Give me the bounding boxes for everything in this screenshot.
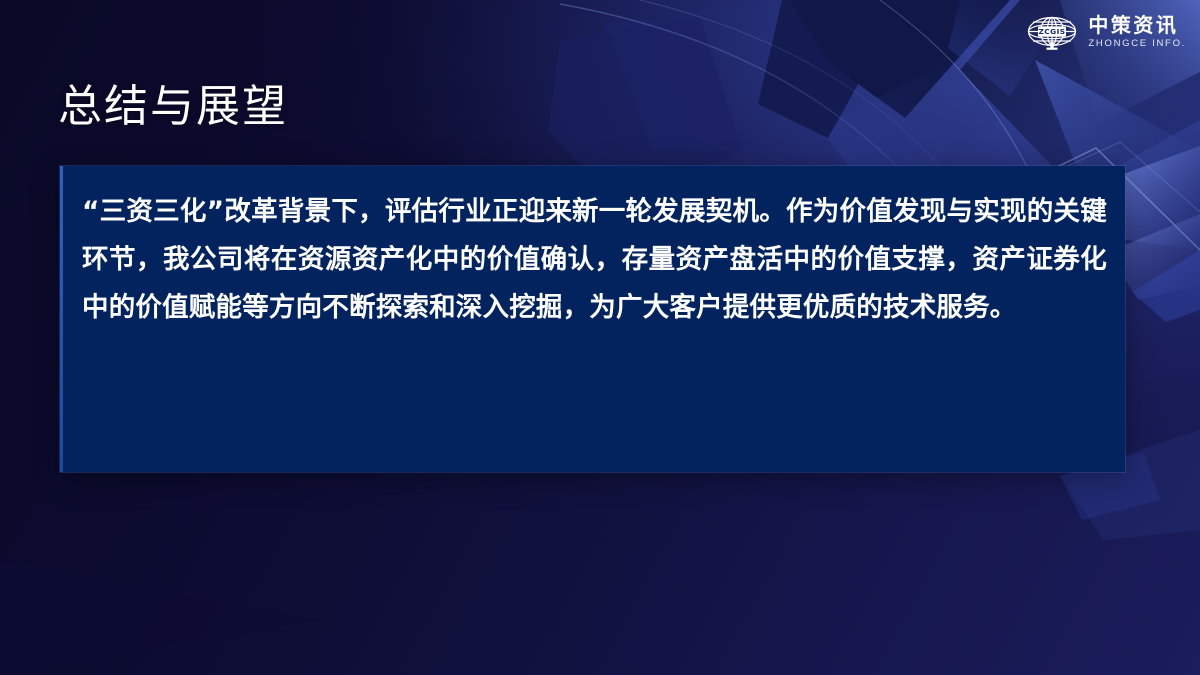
globe-logo-icon: ZCGIS: [1025, 13, 1079, 51]
page-title: 总结与展望: [58, 81, 288, 134]
presentation-slide: 总结与展望 ZCGIS 中策资讯: [0, 0, 1200, 675]
brand-name-cn: 中策资讯: [1088, 15, 1186, 35]
brand-name-en: ZHONGCE INFO.: [1088, 39, 1186, 49]
content-panel: “三资三化”改革背景下，评估行业正迎来新一轮发展契机。作为价值发现与实现的关键环…: [60, 166, 1125, 472]
summary-body-text: “三资三化”改革背景下，评估行业正迎来新一轮发展契机。作为价值发现与实现的关键环…: [82, 188, 1107, 333]
logo-mark-label: ZCGIS: [1039, 27, 1066, 36]
brand-logo-text: 中策资讯 ZHONGCE INFO.: [1088, 15, 1186, 49]
brand-logo: ZCGIS 中策资讯 ZHONGCE INFO.: [1025, 10, 1186, 54]
